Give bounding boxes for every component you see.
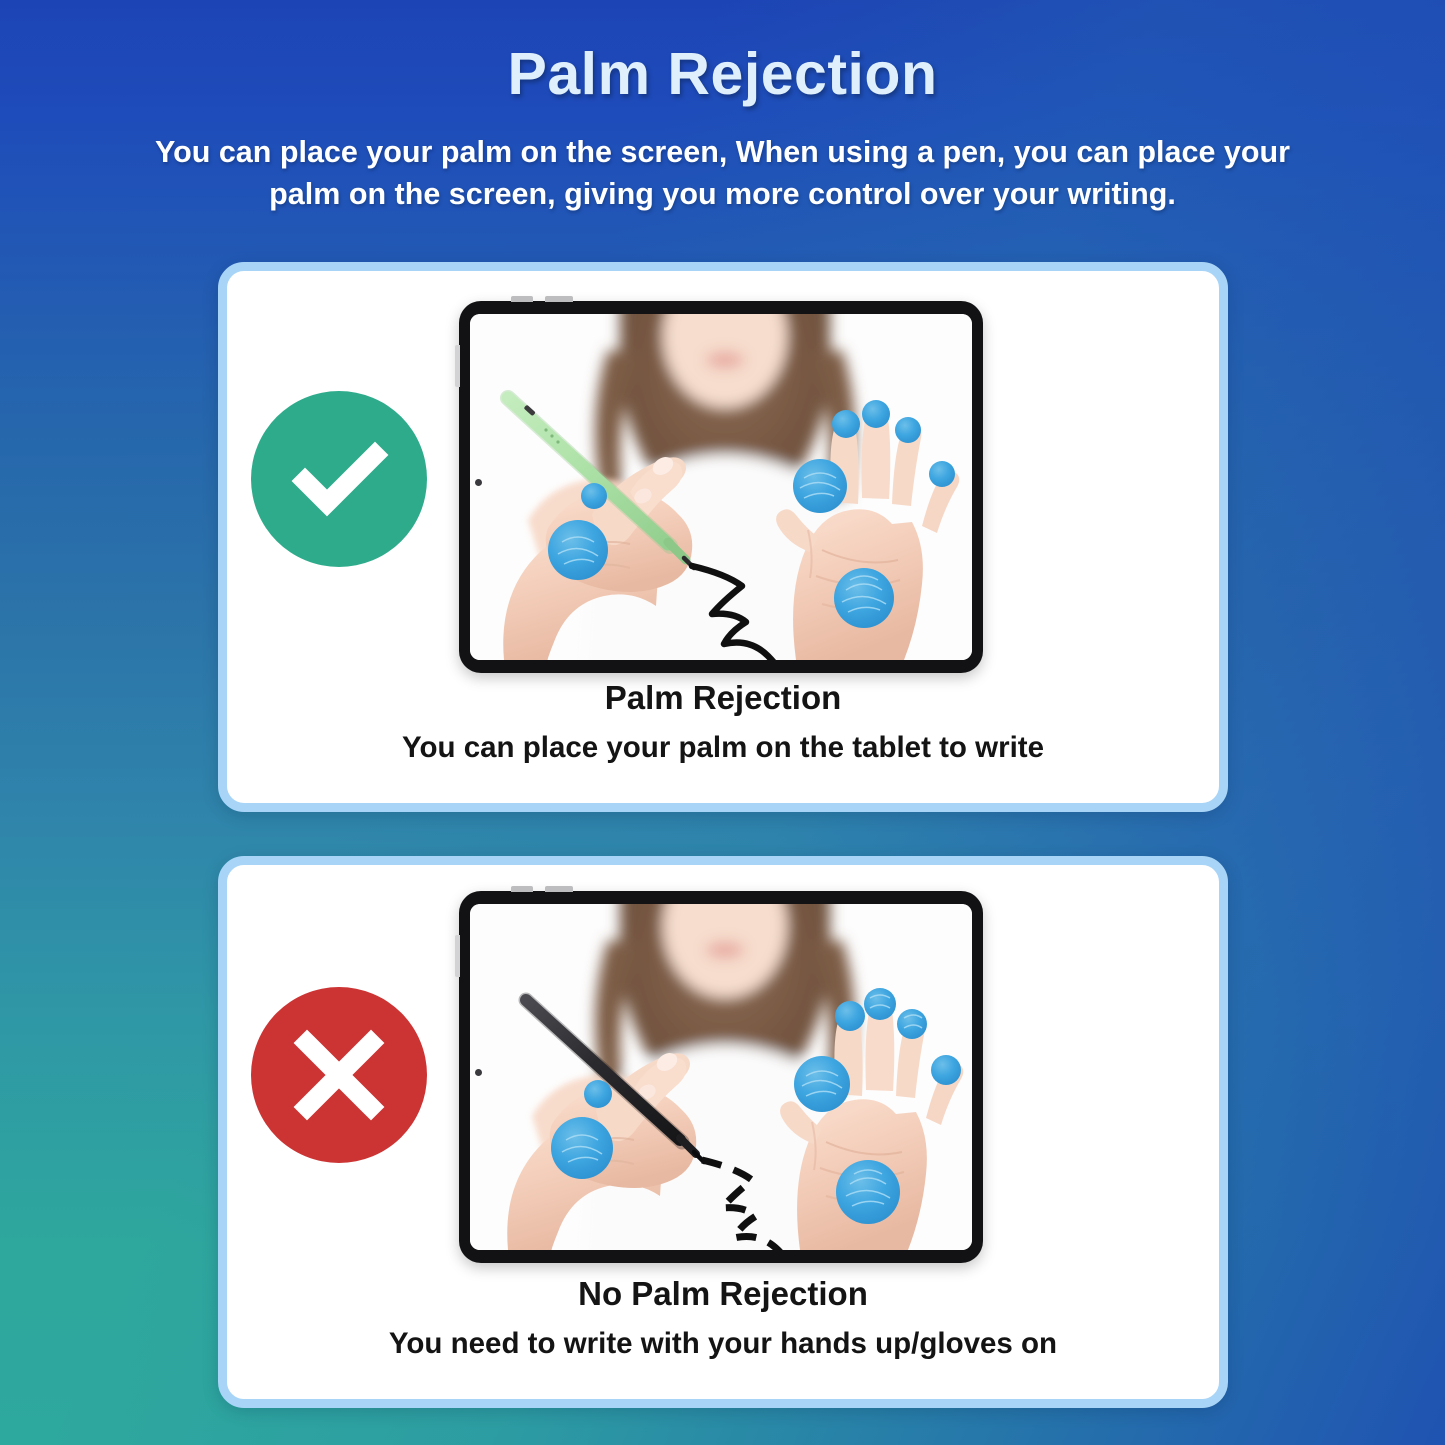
- volume-down-button-icon: [545, 296, 573, 302]
- tablet-body: [459, 301, 983, 673]
- power-button-icon: [455, 935, 460, 977]
- power-button-icon: [455, 345, 460, 387]
- card-caption-bad: No Palm Rejection You need to write with…: [227, 1275, 1219, 1361]
- tablet-illustration-bad: [459, 873, 989, 1265]
- feature-card-no-palm-rejection: No Palm Rejection You need to write with…: [218, 856, 1228, 1408]
- volume-up-button-icon: [511, 886, 533, 892]
- cross-circle-icon: [251, 987, 427, 1163]
- volume-down-button-icon: [545, 886, 573, 892]
- tablet-screen-good: [470, 314, 972, 660]
- volume-up-button-icon: [511, 296, 533, 302]
- front-camera-icon: [475, 479, 482, 486]
- feature-card-palm-rejection: Palm Rejection You can place your palm o…: [218, 262, 1228, 812]
- poster-root: Palm Rejection You can place your palm o…: [0, 0, 1445, 1445]
- caption-subtitle: You need to write with your hands up/glo…: [227, 1313, 1219, 1361]
- header: Palm Rejection You can place your palm o…: [0, 0, 1445, 216]
- tablet-body: [459, 891, 983, 1263]
- caption-title: Palm Rejection: [227, 679, 1219, 717]
- page-title: Palm Rejection: [0, 0, 1445, 106]
- front-camera-icon: [475, 1069, 482, 1076]
- tablet-screen-bad: [470, 904, 972, 1250]
- check-circle-icon: [251, 391, 427, 567]
- card-caption-good: Palm Rejection You can place your palm o…: [227, 679, 1219, 765]
- caption-subtitle: You can place your palm on the tablet to…: [227, 717, 1219, 765]
- tablet-illustration-good: [459, 283, 989, 673]
- page-subtitle: You can place your palm on the screen, W…: [143, 106, 1303, 216]
- caption-title: No Palm Rejection: [227, 1275, 1219, 1313]
